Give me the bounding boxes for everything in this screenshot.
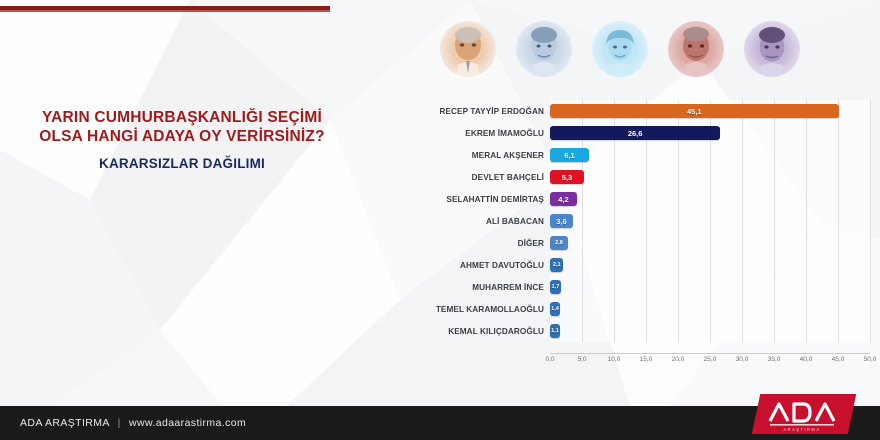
bar-track: 1,7 bbox=[550, 276, 870, 298]
bar-value-label: 3,6 bbox=[556, 217, 566, 226]
candidate-name-label: DEVLET BAHÇELİ bbox=[418, 173, 550, 182]
bar-value-label: 1,4 bbox=[551, 306, 559, 312]
chart-bar: 26,6 bbox=[550, 126, 720, 140]
chart-bar: 5,3 bbox=[550, 170, 584, 184]
chart-row: ALİ BABACAN3,6 bbox=[418, 210, 870, 232]
chart-row: KEMAL KILIÇDAROĞLU1,1 bbox=[418, 320, 870, 342]
bar-track: 2,1 bbox=[550, 254, 870, 276]
poll-bar-chart: RECEP TAYYİP ERDOĞAN45,1EKREM İMAMOĞLU26… bbox=[418, 100, 870, 370]
infographic-canvas: YARIN CUMHURBAŞKANLIĞI SEÇİMİ OLSA HANGİ… bbox=[0, 0, 880, 440]
candidate-photo-strip bbox=[440, 18, 815, 90]
candidate-photo-selahattin-demirtas bbox=[744, 21, 800, 77]
bar-value-label: 6,1 bbox=[564, 151, 574, 160]
chart-bar: 4,2 bbox=[550, 192, 577, 206]
bar-track: 45,1 bbox=[550, 100, 870, 122]
bar-track: 3,6 bbox=[550, 210, 870, 232]
x-tick-label: 50,0 bbox=[864, 356, 877, 363]
candidate-name-label: RECEP TAYYİP ERDOĞAN bbox=[418, 107, 550, 116]
page-title: YARIN CUMHURBAŞKANLIĞI SEÇİMİ OLSA HANGİ… bbox=[22, 108, 342, 146]
chart-bar: 1,1 bbox=[550, 324, 560, 338]
chart-row: RECEP TAYYİP ERDOĞAN45,1 bbox=[418, 100, 870, 122]
bar-track: 6,1 bbox=[550, 144, 870, 166]
chart-bar: 6,1 bbox=[550, 148, 589, 162]
bar-value-label: 1,1 bbox=[551, 328, 559, 334]
page-subtitle: KARARSIZLAR DAĞILIMI bbox=[22, 155, 342, 173]
bar-value-label: 2,1 bbox=[553, 262, 561, 268]
candidate-name-label: DİĞER bbox=[418, 239, 550, 248]
candidate-photo-ekrem-imamoglu bbox=[516, 21, 572, 77]
candidate-name-label: ALİ BABACAN bbox=[418, 217, 550, 226]
chart-row: TEMEL KARAMOLLAOĞLU1,4 bbox=[418, 298, 870, 320]
x-tick-label: 40,0 bbox=[800, 356, 813, 363]
chart-bar: 2,1 bbox=[550, 258, 563, 272]
bar-track: 4,2 bbox=[550, 188, 870, 210]
x-tick-label: 25,0 bbox=[704, 356, 717, 363]
candidate-name-label: AHMET DAVUTOĞLU bbox=[418, 261, 550, 270]
bar-track: 26,6 bbox=[550, 122, 870, 144]
svg-text:ARAŞTIRMA: ARAŞTIRMA bbox=[783, 427, 820, 432]
chart-bar-rows: RECEP TAYYİP ERDOĞAN45,1EKREM İMAMOĞLU26… bbox=[418, 100, 870, 342]
candidate-name-label: MERAL AKŞENER bbox=[418, 151, 550, 160]
chart-bar: 3,6 bbox=[550, 214, 573, 228]
bar-value-label: 26,6 bbox=[628, 129, 643, 138]
candidate-name-label: SELAHATTİN DEMİRTAŞ bbox=[418, 195, 550, 204]
chart-row: MERAL AKŞENER6,1 bbox=[418, 144, 870, 166]
x-tick-label: 10,0 bbox=[608, 356, 621, 363]
x-tick-label: 20,0 bbox=[672, 356, 685, 363]
chart-row: EKREM İMAMOĞLU26,6 bbox=[418, 122, 870, 144]
x-axis-tick-labels: 0,05,010,015,020,025,030,035,040,045,050… bbox=[550, 354, 870, 370]
bar-track: 1,1 bbox=[550, 320, 870, 342]
x-tick-label: 5,0 bbox=[577, 356, 586, 363]
bar-track: 2,8 bbox=[550, 232, 870, 254]
bar-value-label: 1,7 bbox=[552, 284, 560, 290]
footer-credit: ADA ARAŞTIRMA | www.adaarastirma.com bbox=[20, 417, 246, 429]
x-tick-label: 15,0 bbox=[640, 356, 653, 363]
title-block: YARIN CUMHURBAŞKANLIĞI SEÇİMİ OLSA HANGİ… bbox=[22, 108, 342, 173]
chart-row: DİĞER2,8 bbox=[418, 232, 870, 254]
gridline bbox=[870, 100, 871, 342]
candidate-name-label: EKREM İMAMOĞLU bbox=[418, 129, 550, 138]
candidate-photo-meral-aksener bbox=[592, 21, 648, 77]
footer-bar: ADA ARAŞTIRMA | www.adaarastirma.com ARA… bbox=[0, 406, 880, 440]
chart-row: DEVLET BAHÇELİ5,3 bbox=[418, 166, 870, 188]
chart-row: AHMET DAVUTOĞLU2,1 bbox=[418, 254, 870, 276]
chart-bar: 1,7 bbox=[550, 280, 561, 294]
chart-bar: 2,8 bbox=[550, 236, 568, 250]
chart-row: MUHARREM İNCE1,7 bbox=[418, 276, 870, 298]
x-tick-label: 30,0 bbox=[736, 356, 749, 363]
candidate-name-label: MUHARREM İNCE bbox=[418, 283, 550, 292]
footer-brand: ADA ARAŞTIRMA bbox=[20, 417, 109, 429]
footer-url[interactable]: www.adaarastirma.com bbox=[129, 417, 246, 429]
bar-value-label: 45,1 bbox=[687, 107, 702, 116]
bar-value-label: 5,3 bbox=[562, 173, 572, 182]
chart-row: SELAHATTİN DEMİRTAŞ4,2 bbox=[418, 188, 870, 210]
bar-value-label: 4,2 bbox=[558, 195, 568, 204]
bar-track: 5,3 bbox=[550, 166, 870, 188]
x-tick-label: 45,0 bbox=[832, 356, 845, 363]
footer-separator: | bbox=[118, 417, 121, 429]
candidate-name-label: KEMAL KILIÇDAROĞLU bbox=[418, 327, 550, 336]
bar-value-label: 2,8 bbox=[555, 240, 563, 246]
candidate-name-label: TEMEL KARAMOLLAOĞLU bbox=[418, 305, 550, 314]
top-accent-rule-secondary bbox=[0, 10, 330, 12]
bar-track: 1,4 bbox=[550, 298, 870, 320]
x-tick-label: 35,0 bbox=[768, 356, 781, 363]
x-tick-label: 0,0 bbox=[545, 356, 554, 363]
ada-logo[interactable]: ARAŞTIRMA bbox=[756, 394, 852, 434]
candidate-photo-recep-tayyip-erdogan bbox=[440, 21, 496, 77]
chart-bar: 1,4 bbox=[550, 302, 560, 316]
chart-bar: 45,1 bbox=[550, 104, 839, 118]
candidate-photo-devlet-bahceli bbox=[668, 21, 724, 77]
